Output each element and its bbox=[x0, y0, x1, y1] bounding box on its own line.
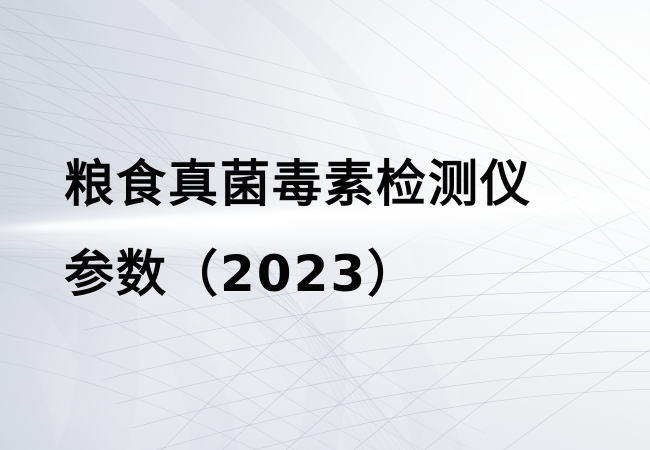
headline-line-1: 粮食真菌毒素检测仪 bbox=[64, 139, 624, 229]
headline-line-2: 参数（2023） bbox=[64, 229, 624, 319]
banner-headline: 粮食真菌毒素检测仪 参数（2023） bbox=[64, 139, 624, 319]
title-banner: 粮食真菌毒素检测仪 参数（2023） bbox=[0, 0, 650, 450]
